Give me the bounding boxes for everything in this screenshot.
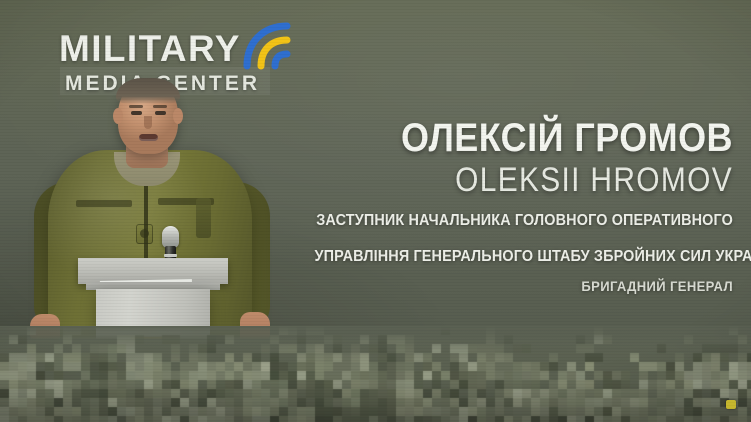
sleeve-pocket bbox=[196, 198, 211, 238]
mouth bbox=[139, 134, 158, 141]
speaker-name-ukrainian: ОЛЕКСІЙ ГРОМОВ bbox=[328, 118, 733, 158]
microphone-head bbox=[162, 226, 179, 248]
speaker-name-latin: OLEKSII HROMOV bbox=[337, 163, 733, 197]
hair bbox=[116, 78, 180, 104]
eye-right bbox=[155, 111, 166, 115]
speaker-position-line1: ЗАСТУПНИК НАЧАЛЬНИКА ГОЛОВНОГО ОПЕРАТИВН… bbox=[315, 208, 734, 233]
speaker-rank: БРИГАДНИЙ ГЕНЕРАЛ bbox=[315, 278, 734, 294]
speaker-position-line2: УПРАВЛІННЯ ГЕНЕРАЛЬНОГО ШТАБУ ЗБРОЙНИХ С… bbox=[315, 244, 734, 269]
lower-third-name-card: ОЛЕКСІЙ ГРОМОВ OLEKSII HROMOV ЗАСТУПНИК … bbox=[283, 118, 733, 294]
ear-left bbox=[113, 108, 123, 124]
logo-title-line1: MILITARY bbox=[59, 30, 241, 67]
broadcast-screenshot: MILITARY MEDIA CENTER bbox=[0, 0, 751, 422]
camo-top-fade bbox=[0, 326, 751, 360]
nose bbox=[144, 116, 152, 129]
jacket-pocket-left bbox=[76, 200, 132, 207]
signal-wave-icon bbox=[237, 16, 315, 72]
camo-bottom-shadow bbox=[0, 382, 751, 422]
eyebrow-left bbox=[129, 105, 143, 108]
channel-watermark bbox=[726, 400, 736, 409]
eye-left bbox=[131, 111, 142, 115]
microphone-ring-upper bbox=[164, 254, 177, 257]
digital-camouflage-band bbox=[0, 326, 751, 422]
ear-right bbox=[173, 108, 183, 124]
lectern-top-surface bbox=[78, 258, 228, 284]
eyebrow-right bbox=[153, 105, 167, 108]
